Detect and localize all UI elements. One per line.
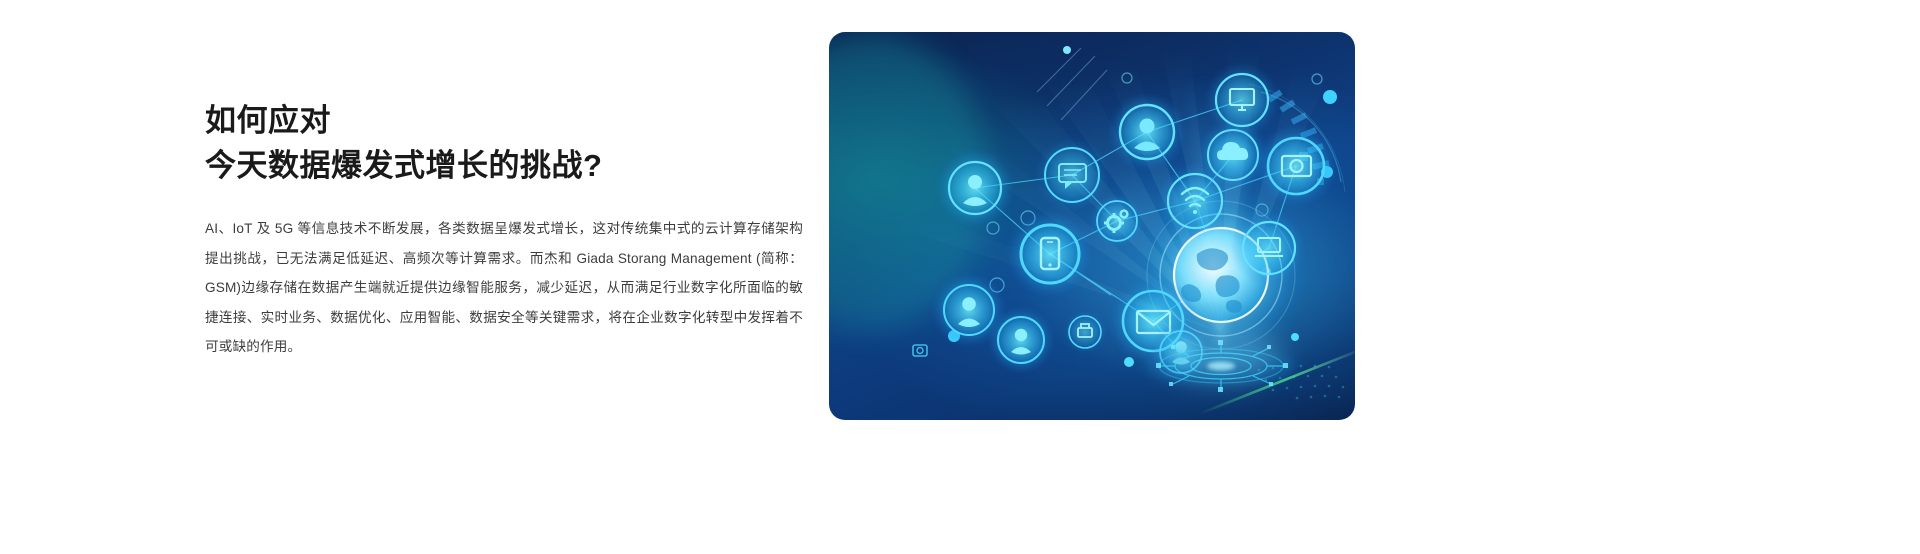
- user-icon: [1140, 119, 1155, 134]
- node-user-bottom: [987, 306, 1055, 374]
- body-paragraph: AI、IoT 及 5G 等信息技术不断发展，各类数据呈爆发式增长，这对传统集中式…: [205, 188, 803, 362]
- user-icon: [968, 175, 982, 189]
- base-bloom: [1161, 328, 1281, 380]
- text-column: 如何应对 今天数据爆发式增长的挑战? AI、IoT 及 5G 等信息技术不断发展…: [205, 98, 805, 362]
- page-root: 如何应对 今天数据爆发式增长的挑战? AI、IoT 及 5G 等信息技术不断发展…: [0, 0, 1920, 554]
- user-icon: [1015, 329, 1027, 341]
- network-illustration-svg: [829, 32, 1355, 420]
- camera-glyph-small: [913, 345, 927, 356]
- node-user-top: [1107, 92, 1187, 172]
- page-title-line-1: 如何应对: [205, 98, 805, 143]
- node-gears: [1089, 193, 1145, 249]
- node-mobile: [1006, 210, 1094, 298]
- node-user-left: [935, 148, 1015, 228]
- node-laptop: [1231, 210, 1307, 286]
- node-monitor: [1204, 62, 1280, 138]
- user-icon: [962, 297, 976, 311]
- node-camera: [1254, 124, 1338, 208]
- hero-illustration: [829, 32, 1355, 420]
- page-title-line-2: 今天数据爆发式增长的挑战?: [205, 143, 805, 188]
- node-printer: [1063, 310, 1107, 354]
